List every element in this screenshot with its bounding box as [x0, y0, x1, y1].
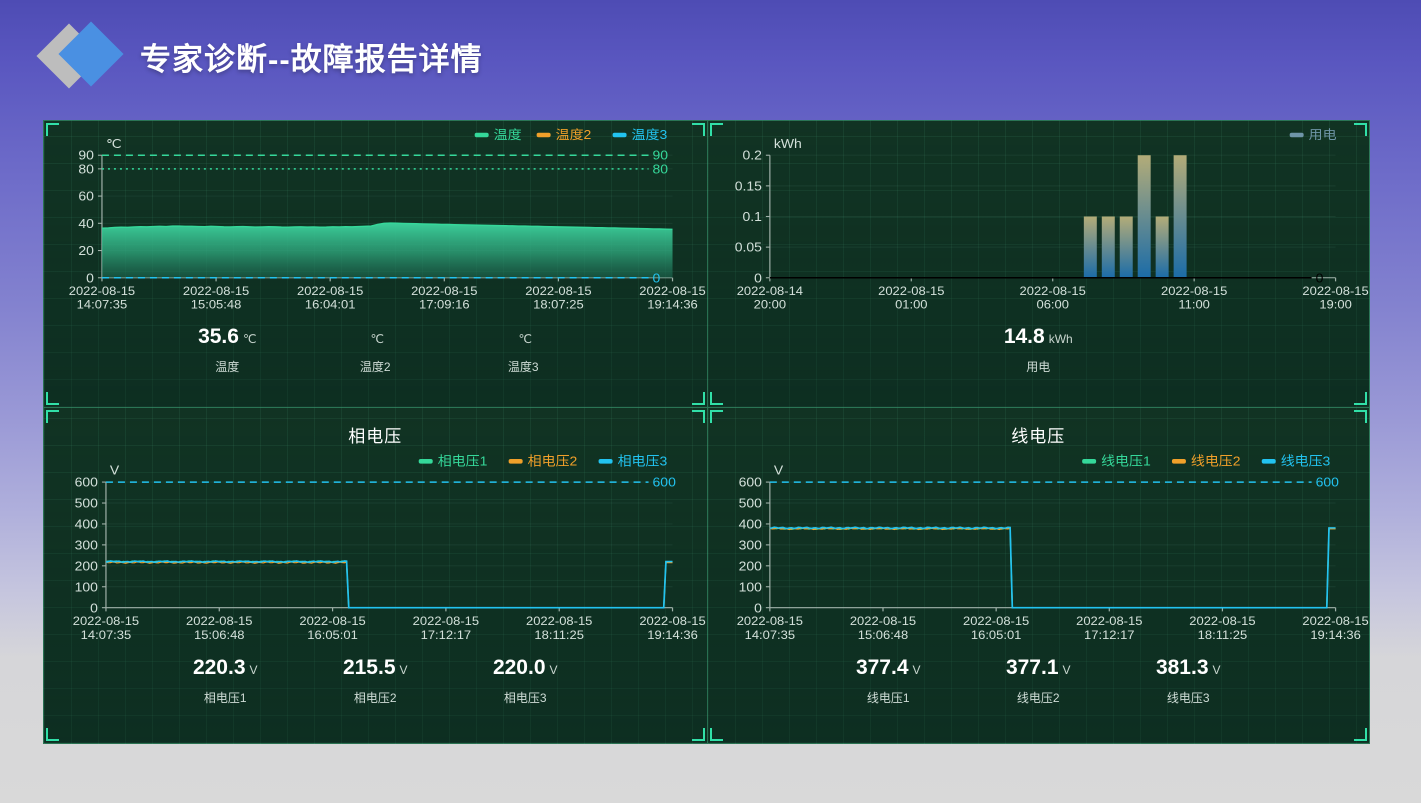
panel-title: 相电压 — [44, 408, 707, 447]
svg-text:600: 600 — [653, 475, 676, 489]
svg-text:200: 200 — [738, 559, 761, 573]
temperature-chart[interactable]: 02040608090℃2022-08-1514:07:352022-08-15… — [44, 121, 707, 321]
stat-label: 用电 — [938, 358, 1138, 375]
svg-text:相电压1: 相电压1 — [438, 454, 488, 468]
svg-text:0: 0 — [90, 601, 98, 615]
svg-text:17:09:16: 17:09:16 — [419, 298, 470, 311]
stat-label: 温度2 — [301, 358, 449, 375]
stat-item: 215.5V 相电压2 — [300, 656, 450, 706]
svg-text:用电: 用电 — [1308, 128, 1336, 142]
phase-voltage-chart[interactable]: 0100200300400500600V2022-08-1514:07:3520… — [44, 447, 707, 652]
svg-text:0.15: 0.15 — [734, 179, 761, 193]
svg-text:300: 300 — [75, 538, 98, 552]
svg-text:相电压3: 相电压3 — [618, 454, 668, 468]
svg-text:0.1: 0.1 — [742, 210, 761, 224]
stat-item: 14.8kWh 用电 — [938, 325, 1138, 375]
corner-bracket-icon — [692, 728, 705, 741]
stat-unit: ℃ — [519, 332, 532, 346]
stat-item: 381.3V 线电压3 — [1113, 656, 1263, 706]
svg-text:100: 100 — [75, 580, 98, 594]
svg-text:线电压2: 线电压2 — [1190, 454, 1240, 468]
corner-bracket-icon — [1354, 410, 1367, 423]
svg-text:2022-08-15: 2022-08-15 — [962, 615, 1028, 628]
svg-text:15:06:48: 15:06:48 — [194, 629, 245, 642]
svg-text:2022-08-15: 2022-08-15 — [736, 615, 802, 628]
svg-text:℃: ℃ — [106, 137, 122, 151]
corner-bracket-icon — [692, 392, 705, 405]
stat-value: 215.5 — [343, 656, 396, 679]
corner-bracket-icon — [1354, 392, 1367, 405]
svg-text:0.05: 0.05 — [734, 240, 761, 254]
svg-text:18:11:25: 18:11:25 — [1197, 629, 1247, 642]
stat-item: ℃ 温度3 — [449, 325, 597, 375]
stat-item: 220.3V 相电压1 — [150, 656, 300, 706]
stat-unit: V — [913, 663, 921, 677]
svg-text:20:00: 20:00 — [753, 298, 786, 311]
stat-unit: kWh — [1049, 332, 1073, 346]
svg-text:17:12:17: 17:12:17 — [421, 629, 472, 642]
panel-line-voltage: 线电压 0100200300400500600V2022-08-1514:07:… — [707, 407, 1371, 744]
corner-bracket-icon — [710, 410, 723, 423]
stat-value: 377.4 — [856, 656, 909, 679]
page-header: 专家诊断--故障报告详情 — [0, 0, 1421, 112]
stat-label: 相电压1 — [150, 689, 300, 706]
svg-text:2022-08-15: 2022-08-15 — [411, 284, 478, 297]
stat-unit: ℃ — [243, 332, 256, 346]
svg-text:15:05:48: 15:05:48 — [191, 298, 242, 311]
svg-text:18:11:25: 18:11:25 — [534, 629, 584, 642]
phase-voltage-chart-svg: 0100200300400500600V2022-08-1514:07:3520… — [44, 447, 707, 652]
corner-bracket-icon — [710, 123, 723, 136]
svg-text:0: 0 — [754, 601, 762, 615]
svg-text:2022-08-15: 2022-08-15 — [639, 615, 705, 628]
svg-text:600: 600 — [75, 475, 98, 489]
stat-value: 220.3 — [193, 656, 246, 679]
temperature-stats: 35.6℃ 温度 ℃ 温度2 ℃ 温度3 — [44, 321, 707, 375]
svg-text:2022-08-15: 2022-08-15 — [849, 615, 915, 628]
stat-label: 线电压2 — [963, 689, 1113, 706]
svg-text:温度3: 温度3 — [632, 128, 668, 142]
svg-text:2022-08-15: 2022-08-15 — [297, 284, 364, 297]
svg-text:相电压2: 相电压2 — [528, 454, 578, 468]
svg-text:600: 600 — [738, 475, 761, 489]
svg-text:2022-08-15: 2022-08-15 — [525, 284, 592, 297]
stat-value: 377.1 — [1006, 656, 1059, 679]
svg-text:18:07:25: 18:07:25 — [533, 298, 584, 311]
energy-chart[interactable]: 00.050.10.150.2kWh2022-08-1420:002022-08… — [708, 121, 1370, 321]
stat-label: 相电压3 — [450, 689, 600, 706]
stat-unit: V — [550, 663, 558, 677]
line-voltage-stats: 377.4V 线电压1 377.1V 线电压2 381.3V 线电压3 — [708, 652, 1370, 706]
svg-text:17:12:17: 17:12:17 — [1084, 629, 1134, 642]
svg-text:15:06:48: 15:06:48 — [857, 629, 907, 642]
svg-text:2022-08-15: 2022-08-15 — [878, 284, 944, 297]
stat-label: 线电压3 — [1113, 689, 1263, 706]
energy-chart-svg: 00.050.10.150.2kWh2022-08-1420:002022-08… — [708, 121, 1370, 321]
svg-text:16:05:01: 16:05:01 — [307, 629, 358, 642]
svg-text:0: 0 — [653, 271, 661, 285]
svg-text:2022-08-15: 2022-08-15 — [1076, 615, 1142, 628]
svg-text:300: 300 — [738, 538, 761, 552]
stat-unit: V — [400, 663, 408, 677]
corner-bracket-icon — [1354, 123, 1367, 136]
svg-text:2022-08-15: 2022-08-15 — [69, 284, 136, 297]
energy-stats: 14.8kWh 用电 — [708, 321, 1370, 375]
svg-text:14:07:35: 14:07:35 — [81, 629, 132, 642]
stat-value: 35.6 — [198, 325, 239, 348]
corner-bracket-icon — [692, 123, 705, 136]
stat-unit: V — [1063, 663, 1071, 677]
svg-text:kWh: kWh — [773, 137, 801, 151]
svg-text:11:00: 11:00 — [1178, 298, 1210, 311]
svg-text:19:14:36: 19:14:36 — [1310, 629, 1360, 642]
stat-value: 14.8 — [1004, 325, 1045, 348]
svg-text:2022-08-15: 2022-08-15 — [186, 615, 252, 628]
stat-label: 温度3 — [449, 358, 597, 375]
phase-voltage-stats: 220.3V 相电压1 215.5V 相电压2 220.0V 相电压3 — [44, 652, 707, 706]
corner-bracket-icon — [46, 410, 59, 423]
line-voltage-chart-svg: 0100200300400500600V2022-08-1514:07:3520… — [708, 447, 1370, 652]
corner-bracket-icon — [710, 392, 723, 405]
temperature-chart-svg: 02040608090℃2022-08-1514:07:352022-08-15… — [44, 121, 707, 321]
stat-label: 相电压2 — [300, 689, 450, 706]
svg-text:19:00: 19:00 — [1319, 298, 1352, 311]
svg-text:2022-08-15: 2022-08-15 — [1189, 615, 1255, 628]
diamond-logo-icon — [42, 19, 134, 93]
svg-text:2022-08-15: 2022-08-15 — [73, 615, 139, 628]
svg-text:90: 90 — [653, 148, 669, 162]
svg-text:2022-08-15: 2022-08-15 — [1019, 284, 1085, 297]
svg-text:14:07:35: 14:07:35 — [744, 629, 794, 642]
stat-item: 377.1V 线电压2 — [963, 656, 1113, 706]
corner-bracket-icon — [1354, 728, 1367, 741]
stat-unit: V — [1213, 663, 1221, 677]
svg-text:0: 0 — [86, 271, 94, 285]
svg-text:16:04:01: 16:04:01 — [305, 298, 356, 311]
corner-bracket-icon — [46, 392, 59, 405]
dashboard-grid: 02040608090℃2022-08-1514:07:352022-08-15… — [43, 120, 1370, 744]
svg-text:线电压1: 线电压1 — [1101, 454, 1151, 468]
svg-text:温度: 温度 — [494, 128, 522, 142]
svg-text:2022-08-15: 2022-08-15 — [1161, 284, 1227, 297]
stat-item: 377.4V 线电压1 — [813, 656, 963, 706]
svg-text:2022-08-15: 2022-08-15 — [639, 284, 706, 297]
svg-text:V: V — [773, 463, 782, 477]
svg-text:14:07:35: 14:07:35 — [77, 298, 128, 311]
stat-value: 381.3 — [1156, 656, 1209, 679]
svg-text:600: 600 — [1315, 475, 1338, 489]
svg-text:2022-08-15: 2022-08-15 — [183, 284, 250, 297]
svg-text:500: 500 — [75, 496, 98, 510]
stat-value: 220.0 — [493, 656, 546, 679]
stat-item: 35.6℃ 温度 — [153, 325, 301, 375]
svg-text:2022-08-15: 2022-08-15 — [1302, 615, 1368, 628]
panel-energy: 00.050.10.150.2kWh2022-08-1420:002022-08… — [707, 120, 1371, 407]
svg-text:16:05:01: 16:05:01 — [970, 629, 1020, 642]
svg-text:100: 100 — [738, 580, 761, 594]
svg-text:06:00: 06:00 — [1036, 298, 1069, 311]
stat-item: ℃ 温度2 — [301, 325, 449, 375]
svg-text:2022-08-15: 2022-08-15 — [1302, 284, 1368, 297]
svg-text:80: 80 — [653, 162, 669, 176]
stat-unit: ℃ — [371, 332, 384, 346]
svg-text:线电压3: 线电压3 — [1280, 454, 1330, 468]
line-voltage-chart[interactable]: 0100200300400500600V2022-08-1514:07:3520… — [708, 447, 1370, 652]
corner-bracket-icon — [710, 728, 723, 741]
panel-temperature: 02040608090℃2022-08-1514:07:352022-08-15… — [43, 120, 707, 407]
page-title: 专家诊断--故障报告详情 — [140, 34, 483, 79]
stat-label: 线电压1 — [813, 689, 963, 706]
svg-text:0.2: 0.2 — [742, 148, 761, 162]
panel-title: 线电压 — [708, 408, 1370, 447]
panel-phase-voltage: 相电压 0100200300400500600V2022-08-1514:07:… — [43, 407, 707, 744]
svg-text:01:00: 01:00 — [895, 298, 928, 311]
svg-text:400: 400 — [75, 517, 98, 531]
svg-text:2022-08-15: 2022-08-15 — [526, 615, 592, 628]
stat-item: 220.0V 相电压3 — [450, 656, 600, 706]
corner-bracket-icon — [46, 728, 59, 741]
corner-bracket-icon — [692, 410, 705, 423]
svg-text:2022-08-14: 2022-08-14 — [736, 284, 802, 297]
svg-text:20: 20 — [78, 244, 94, 258]
svg-text:V: V — [110, 463, 119, 477]
svg-text:2022-08-15: 2022-08-15 — [413, 615, 479, 628]
svg-text:0: 0 — [1315, 271, 1323, 285]
svg-text:19:14:36: 19:14:36 — [647, 629, 698, 642]
stat-label: 温度 — [153, 358, 301, 375]
svg-text:0: 0 — [754, 271, 762, 285]
svg-text:90: 90 — [78, 148, 94, 162]
svg-text:200: 200 — [75, 559, 98, 573]
svg-text:500: 500 — [738, 496, 761, 510]
svg-text:80: 80 — [78, 162, 94, 176]
svg-text:2022-08-15: 2022-08-15 — [299, 615, 365, 628]
svg-text:温度2: 温度2 — [556, 128, 592, 142]
svg-text:60: 60 — [78, 189, 94, 203]
corner-bracket-icon — [46, 123, 59, 136]
svg-text:19:14:36: 19:14:36 — [647, 298, 698, 311]
svg-text:400: 400 — [738, 517, 761, 531]
stat-unit: V — [250, 663, 258, 677]
svg-text:40: 40 — [78, 216, 94, 230]
